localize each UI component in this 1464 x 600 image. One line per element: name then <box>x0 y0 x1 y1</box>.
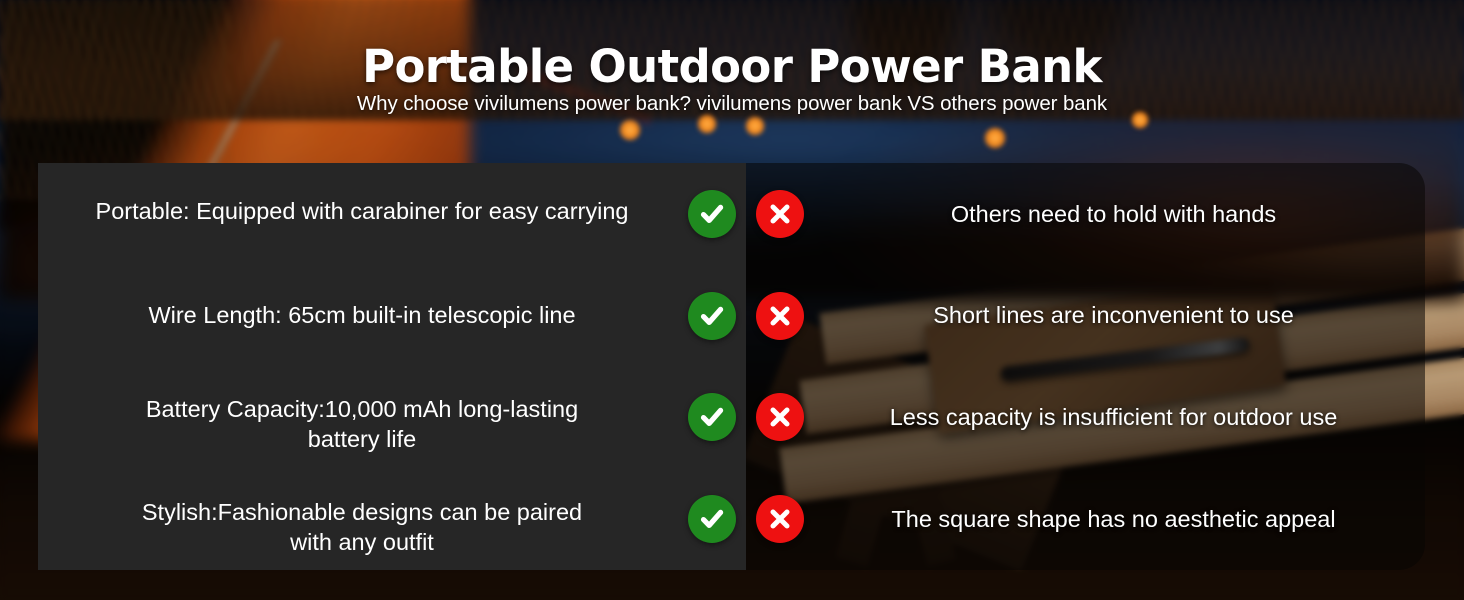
pro-feature-text: Stylish:Fashionable designs can be paire… <box>38 497 678 558</box>
check-circle-icon <box>688 393 736 441</box>
cross-circle-icon <box>756 495 804 543</box>
comparison-row: Portable: Equipped with carabiner for ea… <box>38 163 1425 265</box>
check-circle-icon <box>688 190 736 238</box>
pro-feature-text: Wire Length: 65cm built-in telescopic li… <box>38 300 678 331</box>
check-circle-icon <box>688 495 736 543</box>
con-feature-text: Less capacity is insufficient for outdoo… <box>814 402 1425 433</box>
page-title: Portable Outdoor Power Bank <box>0 40 1464 93</box>
con-status-cell <box>746 393 814 441</box>
bokeh-light <box>745 116 765 136</box>
cross-circle-icon <box>756 190 804 238</box>
pro-status-cell <box>678 292 746 340</box>
pro-status-cell <box>678 495 746 543</box>
pro-status-cell <box>678 190 746 238</box>
pro-status-cell <box>678 393 746 441</box>
comparison-row: Stylish:Fashionable designs can be paire… <box>38 468 1425 570</box>
con-status-cell <box>746 292 814 340</box>
con-status-cell <box>746 495 814 543</box>
pro-feature-text: Battery Capacity:10,000 mAh long-lasting… <box>38 394 678 455</box>
bokeh-light <box>984 127 1006 149</box>
check-circle-icon <box>688 292 736 340</box>
comparison-row: Battery Capacity:10,000 mAh long-lasting… <box>38 367 1425 469</box>
con-feature-text: The square shape has no aesthetic appeal <box>814 504 1425 535</box>
con-feature-text: Others need to hold with hands <box>814 199 1425 230</box>
comparison-table: Portable: Equipped with carabiner for ea… <box>38 163 1425 570</box>
con-feature-text: Short lines are inconvenient to use <box>814 300 1425 331</box>
con-status-cell <box>746 190 814 238</box>
pro-feature-text: Portable: Equipped with carabiner for ea… <box>38 196 678 227</box>
cross-circle-icon <box>756 292 804 340</box>
page-subtitle: Why choose vivilumens power bank? vivilu… <box>0 92 1464 116</box>
comparison-row: Wire Length: 65cm built-in telescopic li… <box>38 265 1425 367</box>
bokeh-light <box>619 119 641 141</box>
promo-banner: Portable Outdoor Power Bank Why choose v… <box>0 0 1464 600</box>
bokeh-light <box>697 114 717 134</box>
cross-circle-icon <box>756 393 804 441</box>
